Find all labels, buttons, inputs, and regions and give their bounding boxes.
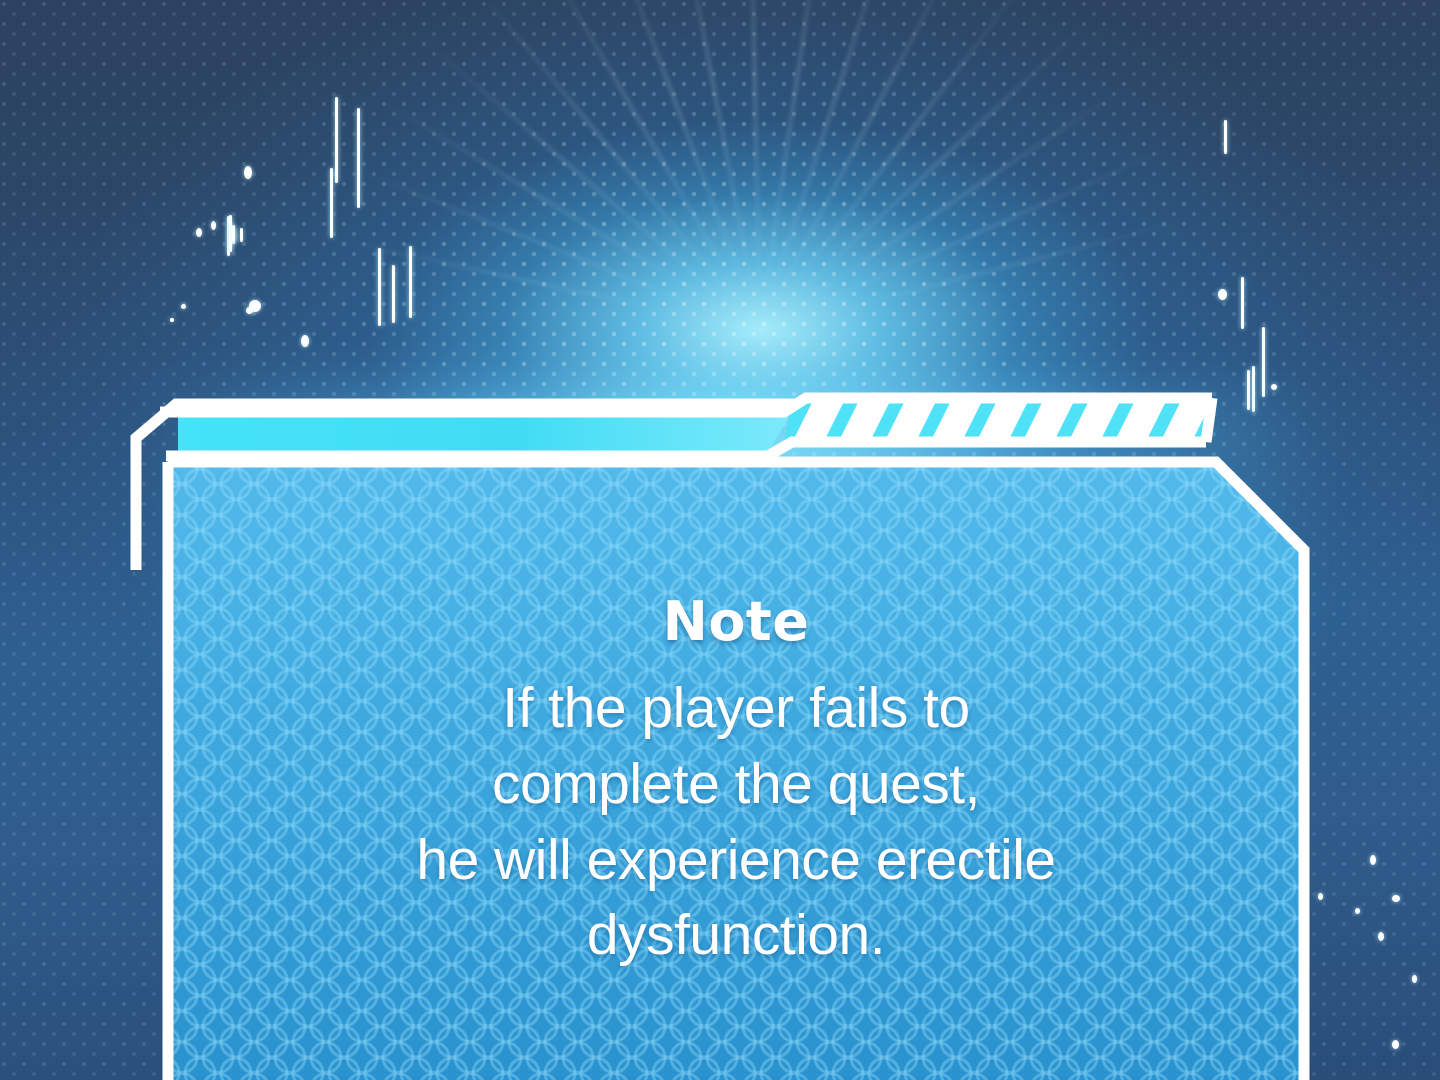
game-screen: Note If the player fails tocomplete the … xyxy=(0,0,1440,1080)
diagonal-hazard-stripes xyxy=(775,386,1250,466)
note-panel: Note If the player fails tocomplete the … xyxy=(0,0,1440,1080)
honeycomb-texture-offset xyxy=(168,462,1304,1080)
panel-body xyxy=(168,462,1304,1080)
